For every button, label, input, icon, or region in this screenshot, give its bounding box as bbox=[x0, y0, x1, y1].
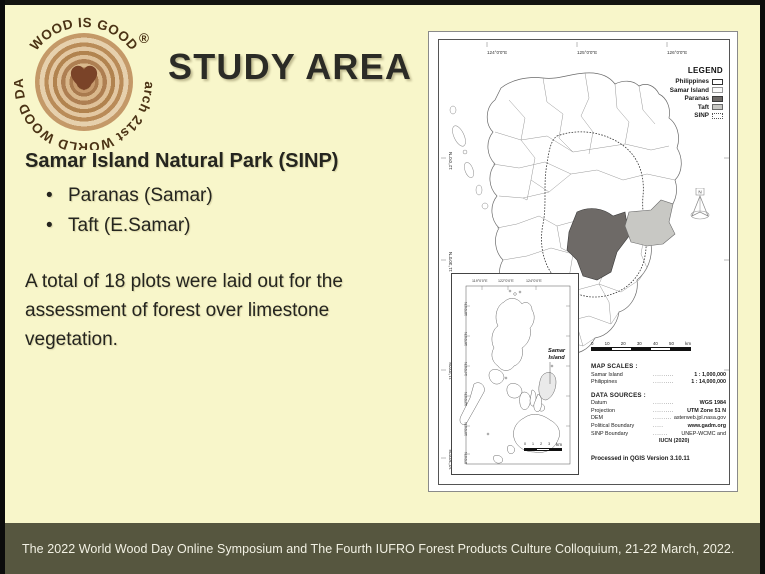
study-site-list: •Paranas (Samar) •Taft (E.Samar) bbox=[46, 181, 213, 241]
list-item-label: Paranas (Samar) bbox=[68, 185, 213, 206]
legend-swatch-icon bbox=[712, 113, 723, 119]
processed-note: Processed in QGIS Version 3.10.11 bbox=[591, 456, 726, 462]
body-paragraph: A total of 18 plots were laid out for th… bbox=[25, 267, 421, 354]
world-wood-day-logo: WOOD IS GOOD ® March 21st WORLD WOOD DAY bbox=[14, 12, 154, 150]
inset-latitude-label: 14°0'0"N bbox=[464, 362, 468, 376]
inset-latitude-label: 8°0'0"N bbox=[464, 452, 468, 464]
data-source-row: Political Boundary ..... www.gadm.org bbox=[591, 423, 726, 431]
slide-edge-right bbox=[760, 0, 765, 574]
data-source-value: www.gadm.org bbox=[685, 423, 726, 431]
legend-item-paranas: Paranas bbox=[637, 95, 723, 102]
map-scale-value: 1 : 14,000,000 bbox=[688, 379, 726, 387]
scalebar-tick: 50 bbox=[669, 341, 674, 346]
north-letter: N bbox=[698, 190, 701, 195]
inset-latitude-label: 12°0'0"N bbox=[464, 392, 468, 406]
inset-samar-label: Samar Island bbox=[548, 348, 565, 361]
scalebar-tick: 30 bbox=[637, 341, 642, 346]
scalebar-tick: 40 bbox=[653, 341, 658, 346]
scalebar-tick: 0 bbox=[524, 442, 526, 447]
data-source-key: Projection bbox=[591, 408, 653, 416]
legend-item-sinp: SINP bbox=[637, 112, 723, 119]
logo-circular-text: WOOD IS GOOD ® March 21st WORLD WOOD DAY bbox=[14, 12, 154, 150]
scalebar-tick: 3 bbox=[548, 442, 550, 447]
data-source-row: Datum .......... WGS 1984 bbox=[591, 400, 726, 408]
map-scales-title: MAP SCALES : bbox=[591, 363, 726, 370]
legend-item-label: Philippines bbox=[675, 78, 709, 85]
map-scale-row: Samar Island .......... 1 : 1,000,000 bbox=[591, 372, 726, 380]
map-scale-key: Samar Island bbox=[591, 372, 653, 380]
data-source-value: asterweb.jpl.nasa.gov bbox=[671, 415, 726, 423]
scalebar-tick: 1 bbox=[532, 442, 534, 447]
inset-scalebar: 0 1 2 3 km bbox=[524, 442, 562, 451]
legend-swatch-icon bbox=[712, 87, 723, 93]
data-source-row: SINP Boundary ....... UNEP-WCMC and bbox=[591, 431, 726, 439]
map-scale-row: Philippines .......... 1 : 14,000,000 bbox=[591, 379, 726, 387]
philippines-inset-map: 119°0'0"E 122°0'0"E 124°0'0"E 18°0'0"N 1… bbox=[451, 273, 579, 475]
scalebar-tick: 10 bbox=[605, 341, 610, 346]
logo-top-text: WOOD IS GOOD bbox=[27, 15, 141, 53]
legend-swatch-icon bbox=[712, 79, 723, 85]
page-title: STUDY AREA bbox=[168, 46, 412, 88]
map-frame: 124°0'0"E 125°0'0"E 126°0'0"E 12°0'0"N 1… bbox=[438, 39, 730, 485]
data-source-value: UNEP-WCMC and bbox=[678, 431, 726, 439]
dot-leader: .......... bbox=[653, 372, 691, 380]
list-item-label: Taft (E.Samar) bbox=[68, 215, 190, 236]
bullet-icon: • bbox=[46, 211, 68, 241]
footer-text: The 2022 World Wood Day Online Symposium… bbox=[0, 542, 734, 556]
presentation-slide: WOOD IS GOOD ® March 21st WORLD WOOD DAY… bbox=[0, 0, 765, 574]
scalebar-bar bbox=[591, 347, 691, 351]
data-sources-title: DATA SOURCES : bbox=[591, 392, 726, 399]
data-source-value: UTM Zone 51 N bbox=[684, 408, 726, 416]
inset-latitude-label: 18°0'0"N bbox=[464, 302, 468, 316]
slide-footer: The 2022 World Wood Day Online Symposium… bbox=[0, 523, 765, 574]
legend-item-samar-island: Samar Island bbox=[637, 87, 723, 94]
legend-item-label: Paranas bbox=[684, 95, 709, 102]
dot-leader: ....... bbox=[653, 431, 678, 439]
legend-swatch-icon bbox=[712, 104, 723, 110]
inset-latitude-label: 16°0'0"N bbox=[464, 332, 468, 346]
legend-item-philippines: Philippines bbox=[637, 78, 723, 85]
north-arrow-icon: N bbox=[687, 188, 713, 222]
data-source-key: Datum bbox=[591, 400, 653, 408]
scalebar-tick: 0 bbox=[591, 341, 593, 346]
scalebar-unit: km bbox=[685, 341, 691, 346]
inset-longitude-label: 119°0'0"E bbox=[472, 279, 488, 283]
data-source-value-continued: IUCN (2020) bbox=[591, 438, 726, 446]
inset-longitude-label: 124°0'0"E bbox=[526, 279, 542, 283]
scalebar-tick: 2 bbox=[540, 442, 542, 447]
data-source-key: DEM bbox=[591, 415, 653, 423]
map-metadata: MAP SCALES : Samar Island .......... 1 :… bbox=[591, 358, 726, 462]
map-legend: LEGEND Philippines Samar Island Paranas … bbox=[637, 66, 723, 121]
logo-bottom-text: March 21st WORLD WOOD DAY bbox=[14, 12, 154, 150]
slide-edge-left bbox=[0, 0, 5, 574]
data-source-value: WGS 1984 bbox=[697, 400, 726, 408]
dot-leader: ..... bbox=[653, 423, 685, 431]
list-item: •Paranas (Samar) bbox=[46, 181, 213, 211]
dot-leader: .......... bbox=[653, 400, 697, 408]
section-subtitle: Samar Island Natural Park (SINP) bbox=[25, 150, 338, 173]
legend-item-taft: Taft bbox=[637, 104, 723, 111]
data-source-key: SINP Boundary bbox=[591, 431, 653, 439]
study-area-map: 124°0'0"E 125°0'0"E 126°0'0"E 12°0'0"N 1… bbox=[428, 31, 738, 492]
inset-scalebar-bar bbox=[524, 448, 562, 451]
scalebar-unit: km bbox=[556, 442, 562, 447]
dot-leader: .......... bbox=[653, 379, 688, 387]
data-source-row: DEM .......... asterweb.jpl.nasa.gov bbox=[591, 415, 726, 423]
scalebar-ticks: 0 10 20 30 40 50 km bbox=[591, 341, 691, 346]
dot-leader: .......... bbox=[653, 415, 671, 423]
map-scale-value: 1 : 1,000,000 bbox=[691, 372, 726, 380]
legend-swatch-icon bbox=[712, 96, 723, 102]
legend-title: LEGEND bbox=[637, 66, 723, 75]
bullet-icon: • bbox=[46, 181, 68, 211]
inset-longitude-label: 122°0'0"E bbox=[498, 279, 514, 283]
legend-item-label: Samar Island bbox=[670, 87, 709, 94]
inset-latitude-label: 10°0'0"N bbox=[464, 422, 468, 436]
legend-item-label: Taft bbox=[698, 104, 709, 111]
legend-item-label: SINP bbox=[694, 112, 709, 119]
slide-edge-top bbox=[0, 0, 765, 5]
dot-leader: .......... bbox=[653, 408, 684, 416]
data-source-row: Projection .......... UTM Zone 51 N bbox=[591, 408, 726, 416]
inset-scalebar-ticks: 0 1 2 3 km bbox=[524, 442, 562, 447]
map-scale-key: Philippines bbox=[591, 379, 653, 387]
map-scalebar: 0 10 20 30 40 50 km bbox=[591, 341, 691, 351]
data-source-key: Political Boundary bbox=[591, 423, 653, 431]
list-item: •Taft (E.Samar) bbox=[46, 211, 213, 241]
scalebar-tick: 20 bbox=[621, 341, 626, 346]
logo-registered-mark: ® bbox=[139, 31, 149, 46]
